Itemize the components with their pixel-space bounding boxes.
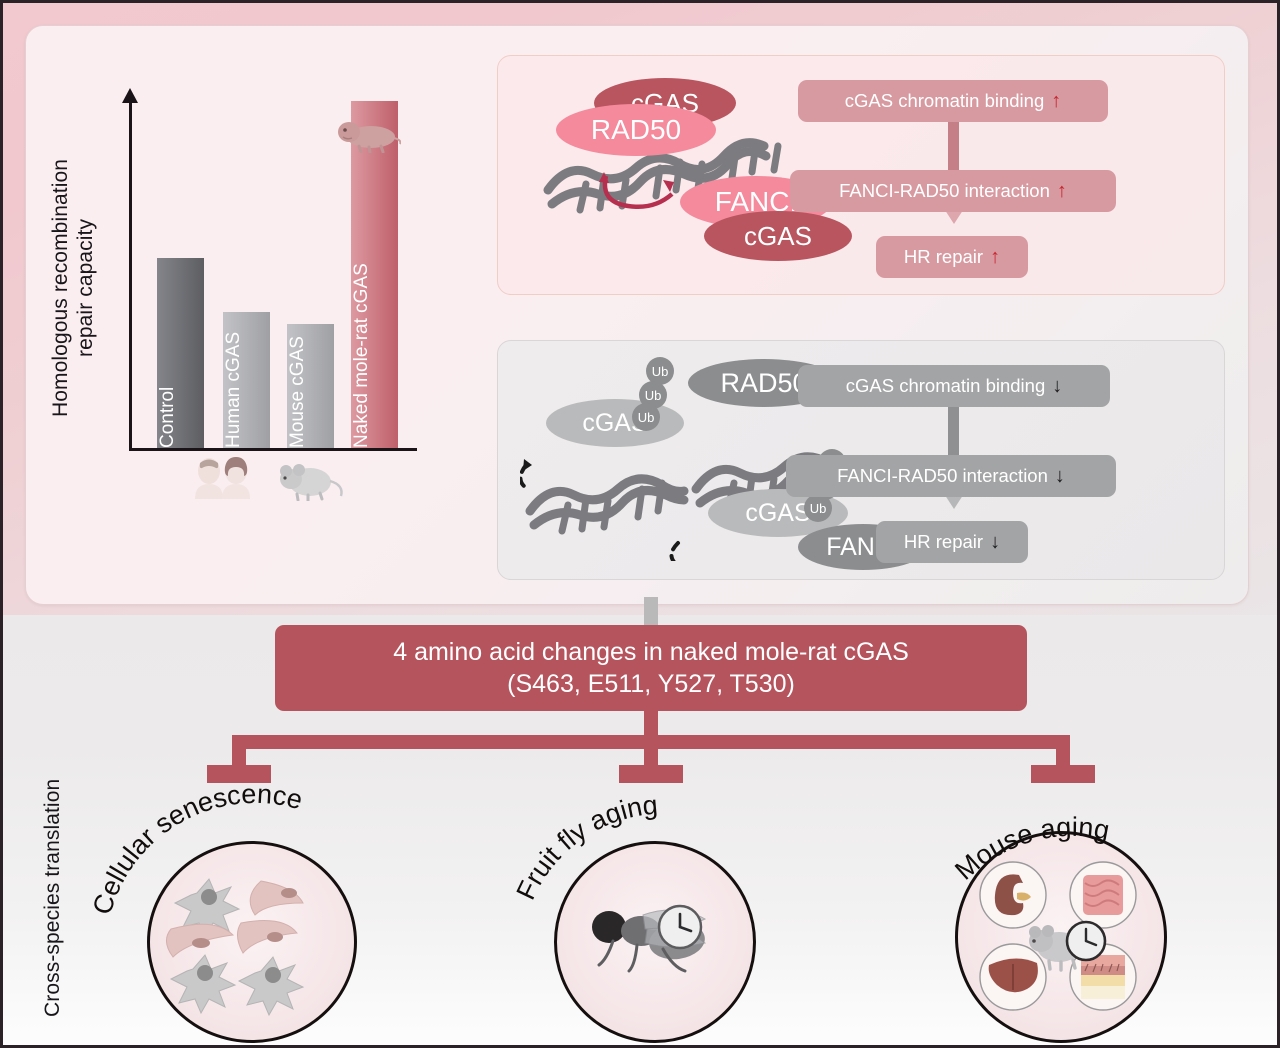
tree-foot-center (619, 765, 683, 783)
amino-acid-changes-box: 4 amino acid changes in naked mole-rat c… (275, 625, 1027, 711)
graphical-abstract: Homologous recombinationrepair capacity … (0, 0, 1280, 1048)
flowbox-fanci-rad50-interaction-up: FANCI-RAD50 interaction ↑ (790, 170, 1116, 212)
bar-control: Control (157, 258, 204, 448)
flowbox-hr-repair-down: HR repair ↓ (876, 521, 1028, 563)
flowbox-label: FANCI-RAD50 interaction (839, 180, 1050, 202)
human-icon (187, 455, 267, 501)
drosophila-clock-icon (581, 893, 731, 1003)
amino-box-line1: 4 amino acid changes in naked mole-rat c… (393, 636, 909, 668)
protein-ellipse-cgas-bottom: cGAS (704, 211, 852, 261)
ellipse-label: cGAS (744, 221, 812, 252)
ellipse-label: RAD50 (591, 114, 681, 146)
up-arrow-icon: ↑ (990, 246, 1000, 269)
mouse-icon (277, 457, 347, 501)
flowbox-hr-repair-up: HR repair ↑ (876, 236, 1028, 278)
ub-label: Ub (638, 410, 655, 425)
flowbox-label: cGAS chromatin binding (845, 90, 1045, 112)
flow-connector-1 (948, 118, 959, 176)
human-mouse-mechanism-panel: cGAS RAD50 cGAS FANCI Ub Ub Ub Ub Ub Ub … (497, 340, 1225, 580)
ub-label: Ub (652, 364, 669, 379)
down-arrow-icon: ↓ (1052, 375, 1062, 398)
x-axis (129, 448, 417, 451)
bar-human-cgas: Human cGAS (223, 312, 270, 448)
hr-repair-bar-chart: Control Human cGAS Mouse cGAS Naked mole… (121, 89, 421, 459)
up-arrow-icon: ↑ (1051, 90, 1061, 113)
down-arrow-icon: ↓ (990, 531, 1000, 554)
ub-label: Ub (645, 388, 662, 403)
flowbox-label: cGAS chromatin binding (846, 375, 1046, 397)
senescent-cells-icon (163, 865, 335, 1017)
flowbox-cgas-chromatin-binding-down: cGAS chromatin binding ↓ (798, 365, 1110, 407)
tree-foot-left (207, 765, 271, 783)
bar-label: Human cGAS (223, 332, 245, 448)
y-axis-label: Homologous recombinationrepair capacity (49, 108, 99, 468)
ub-label: Ub (810, 501, 827, 516)
naked-mole-rat-mechanism-panel: cGAS RAD50 FANCI cGAS cGAS chromatin bin… (497, 55, 1225, 295)
bar-naked-mole-rat-cgas: Naked mole-rat cGAS (351, 101, 398, 448)
flowbox-cgas-chromatin-binding-up: cGAS chromatin binding ↑ (798, 80, 1108, 122)
bar-label: Naked mole-rat cGAS (351, 263, 373, 448)
down-arrow-icon: ↓ (1055, 465, 1065, 488)
protein-ellipse-rad50: RAD50 (556, 104, 716, 156)
flowbox-label: FANCI-RAD50 interaction (837, 465, 1048, 487)
flowbox-fanci-rad50-interaction-down: FANCI-RAD50 interaction ↓ (786, 455, 1116, 497)
ellipse-label: RAD50 (720, 368, 807, 399)
flowbox-label: HR repair (904, 246, 983, 268)
mouse-organs-clock-icon (963, 843, 1153, 1029)
flow-connector-1 (948, 403, 959, 461)
cross-species-translation-label: Cross-species translation (41, 773, 66, 1023)
bar-label: Control (157, 387, 179, 448)
amino-box-line2: (S463, E511, Y527, T530) (507, 668, 795, 700)
tree-foot-right (1031, 765, 1095, 783)
ub-icon: Ub (804, 494, 832, 522)
ellipse-label: cGAS (745, 499, 810, 528)
bar-group: Control Human cGAS Mouse cGAS Naked mole… (129, 101, 417, 448)
ub-icon: Ub (632, 403, 660, 431)
up-arrow-icon: ↑ (1057, 180, 1067, 203)
bar-label: Mouse cGAS (287, 336, 309, 448)
protein-ellipse-cgas-left: cGAS (546, 399, 684, 447)
naked-mole-rat-icon (335, 113, 401, 153)
flowbox-label: HR repair (904, 531, 983, 553)
bar-mouse-cgas: Mouse cGAS (287, 324, 334, 448)
